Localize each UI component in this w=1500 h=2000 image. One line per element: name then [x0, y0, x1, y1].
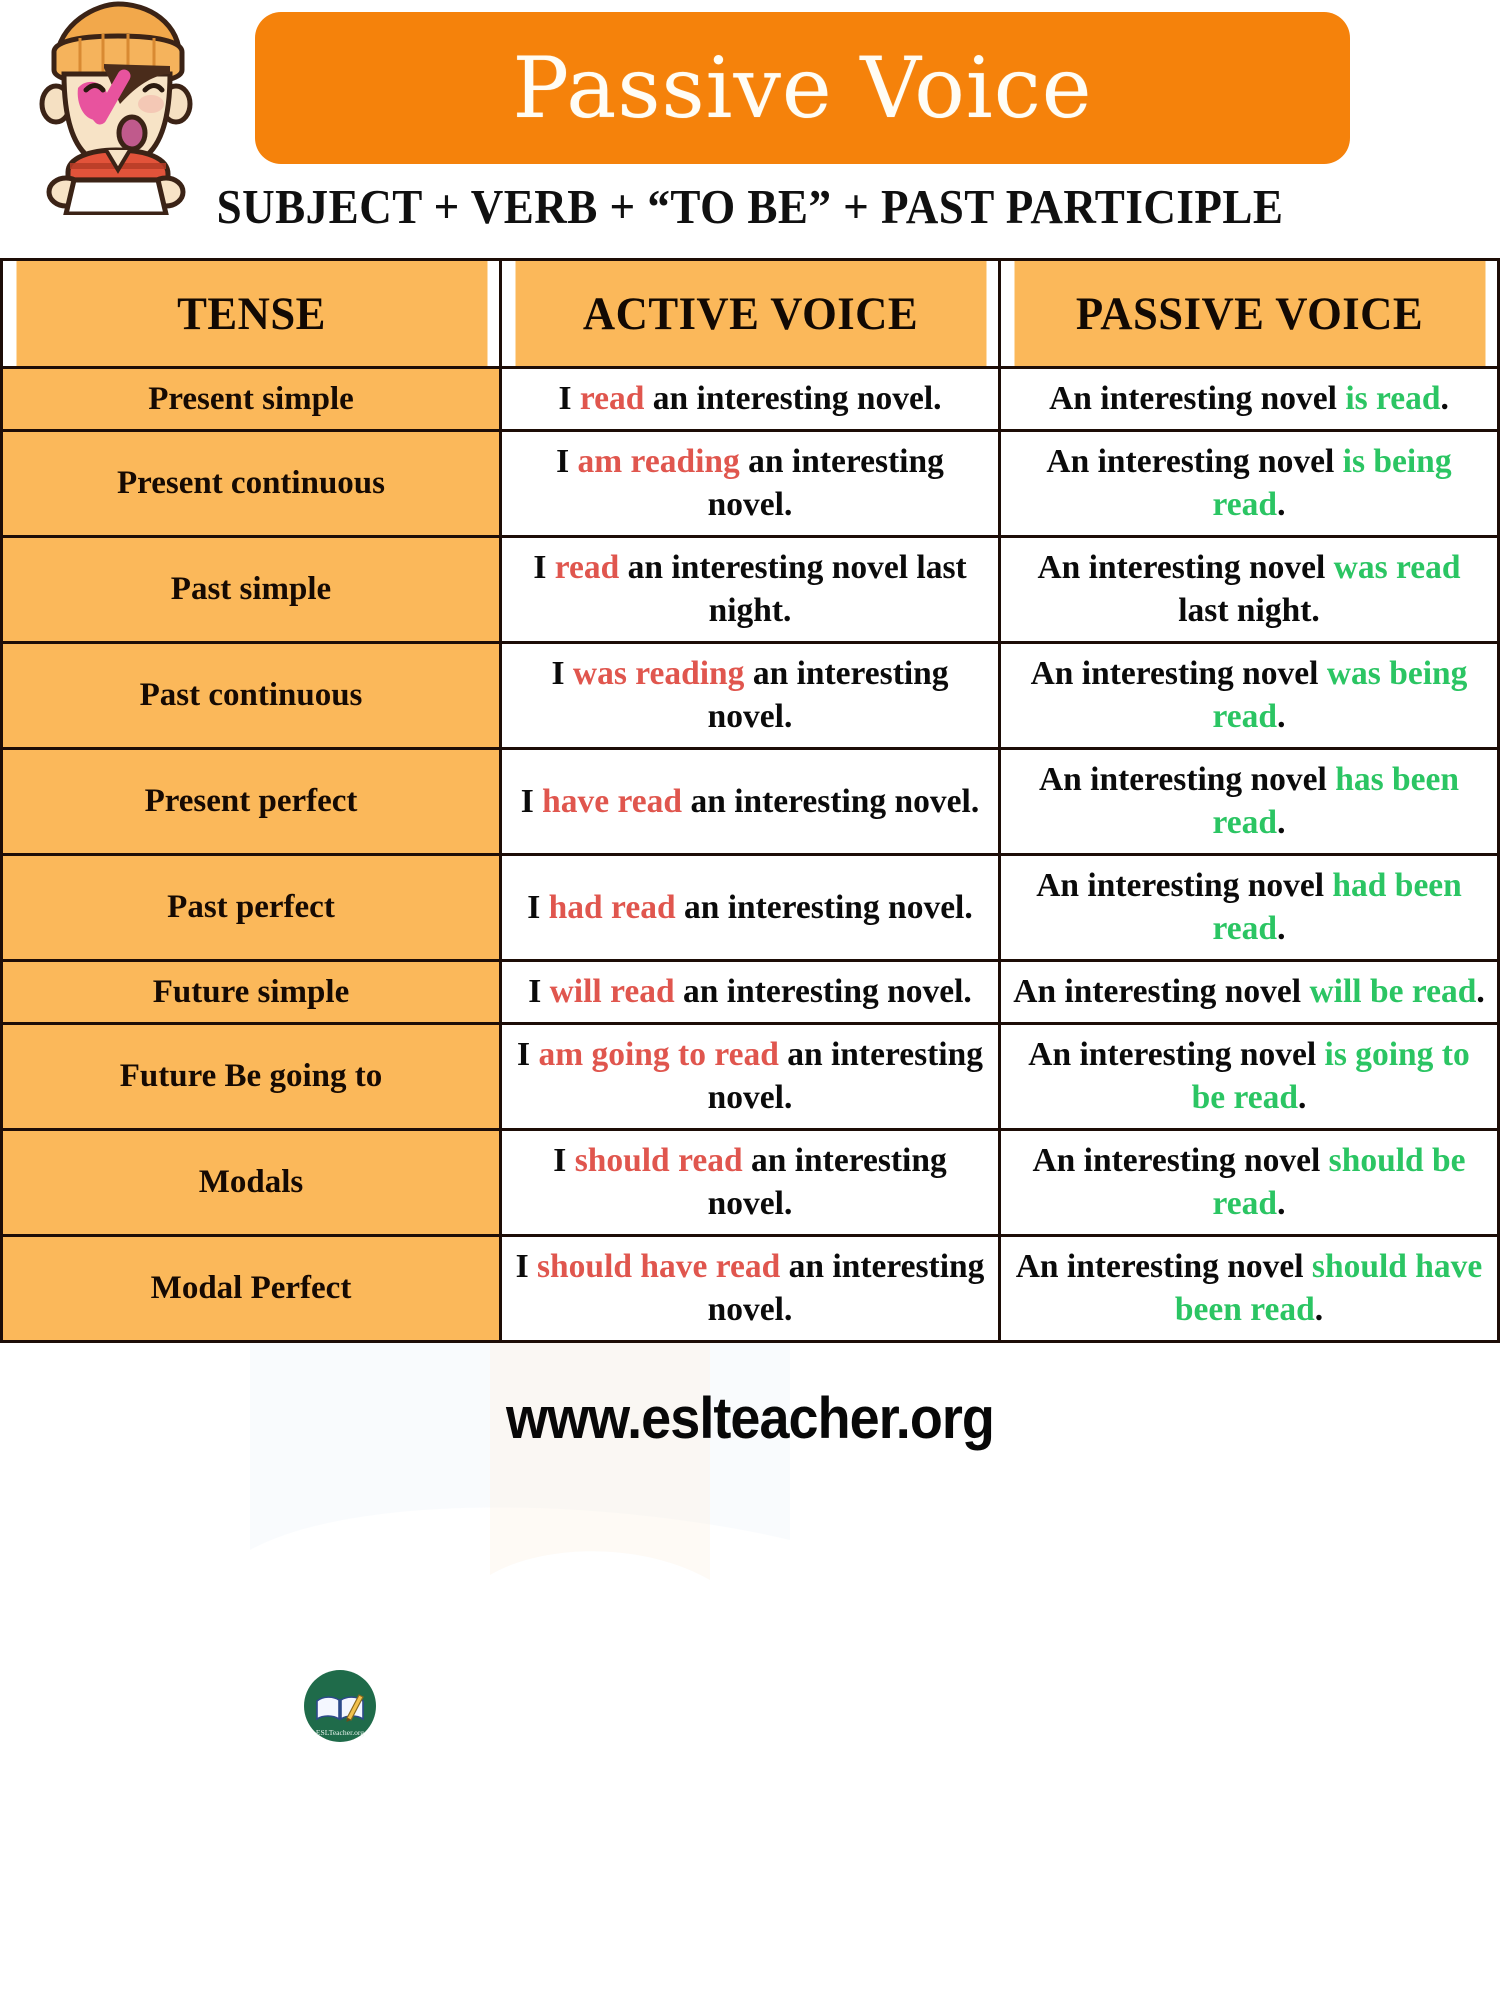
table-row: Present continuousI am reading an intere…: [2, 430, 1499, 536]
passive-voice-cell: An interesting novel is going to be read…: [1000, 1023, 1499, 1129]
column-header-active: ACTIVE VOICE: [513, 260, 987, 368]
sentence-text: An interesting novel: [1013, 973, 1309, 1010]
sentence-text: I: [516, 1248, 537, 1285]
tense-cell: Modals: [2, 1129, 501, 1235]
sentence-text: .: [1441, 380, 1449, 417]
active-verb-highlight: read: [580, 380, 645, 417]
sentence-text: .: [1277, 698, 1285, 735]
sentence-text: an interesting novel.: [676, 889, 973, 926]
active-verb-highlight: have read: [542, 783, 682, 820]
table-header-row: TENSE ACTIVE VOICE PASSIVE VOICE: [2, 260, 1499, 368]
column-header-tense: TENSE: [14, 260, 488, 368]
sentence-text: I: [558, 380, 579, 417]
footer-website: www.eslteacher.org: [53, 1385, 1448, 1452]
sentence-text: An interesting novel: [1049, 380, 1345, 417]
sentence-text: An interesting novel: [1037, 549, 1333, 586]
title-banner: Passive Voice: [255, 12, 1350, 164]
sentence-text: An interesting novel: [1046, 443, 1342, 480]
passive-verb-highlight: will be read: [1309, 973, 1476, 1010]
tense-cell: Past simple: [2, 536, 501, 642]
sentence-text: .: [1298, 1079, 1306, 1116]
passive-voice-cell: An interesting novel has been read.: [1000, 748, 1499, 854]
active-verb-highlight: should read: [575, 1142, 743, 1179]
active-verb-highlight: am reading: [578, 443, 740, 480]
tense-cell: Future Be going to: [2, 1023, 501, 1129]
table-row: Future simpleI will read an interesting …: [2, 961, 1499, 1024]
active-voice-cell: I was reading an interesting novel.: [501, 642, 1000, 748]
sentence-text: I: [556, 443, 577, 480]
sentence-text: I: [551, 655, 572, 692]
sentence-text: an interesting novel.: [682, 783, 979, 820]
passive-verb-highlight: was read: [1334, 549, 1461, 586]
table-row: Past simpleI read an interesting novel l…: [2, 536, 1499, 642]
column-header-passive: PASSIVE VOICE: [1012, 260, 1486, 368]
svg-text:ESLTeacher.org: ESLTeacher.org: [316, 1728, 364, 1737]
sentence-text: An interesting novel: [1031, 655, 1327, 692]
passive-voice-cell: An interesting novel was read last night…: [1000, 536, 1499, 642]
active-verb-highlight: read: [555, 549, 620, 586]
table-row: Future Be going toI am going to read an …: [2, 1023, 1499, 1129]
passive-voice-cell: An interesting novel should be read.: [1000, 1129, 1499, 1235]
active-voice-cell: I had read an interesting novel.: [501, 854, 1000, 960]
sentence-text: .: [1277, 910, 1285, 947]
active-voice-cell: I should have read an interesting novel.: [501, 1235, 1000, 1341]
sentence-text: An interesting novel: [1032, 1142, 1328, 1179]
sentence-text: I: [553, 1142, 574, 1179]
active-voice-cell: I read an interesting novel.: [501, 368, 1000, 431]
active-verb-highlight: am going to read: [538, 1036, 778, 1073]
table-row: ModalsI should read an interesting novel…: [2, 1129, 1499, 1235]
passive-verb-highlight: is read: [1345, 380, 1440, 417]
table-row: Modal PerfectI should have read an inter…: [2, 1235, 1499, 1341]
active-voice-cell: I have read an interesting novel.: [501, 748, 1000, 854]
formula-line: SUBJECT + VERB + “TO BE” + PAST PARTICIP…: [60, 178, 1440, 235]
tense-cell: Past perfect: [2, 854, 501, 960]
page-title: Passive Voice: [513, 46, 1093, 130]
sentence-text: last night.: [1178, 592, 1319, 629]
sentence-text: .: [1315, 1291, 1323, 1328]
tense-cell: Present continuous: [2, 430, 501, 536]
active-voice-cell: I am going to read an interesting novel.: [501, 1023, 1000, 1129]
sentence-text: An interesting novel: [1036, 867, 1332, 904]
passive-voice-table: TENSE ACTIVE VOICE PASSIVE VOICE Present…: [0, 258, 1500, 1343]
passive-voice-cell: An interesting novel will be read.: [1000, 961, 1499, 1024]
active-verb-highlight: had read: [549, 889, 676, 926]
sentence-text: I: [533, 549, 554, 586]
sentence-text: an interesting novel last night.: [619, 549, 966, 630]
table-body: Present simpleI read an interesting nove…: [2, 368, 1499, 1342]
table-row: Past perfectI had read an interesting no…: [2, 854, 1499, 960]
tense-cell: Present simple: [2, 368, 501, 431]
sentence-text: .: [1277, 1185, 1285, 1222]
page-header: Passive Voice SUBJECT + VERB + “TO BE” +…: [0, 0, 1500, 250]
passive-voice-cell: An interesting novel was being read.: [1000, 642, 1499, 748]
tense-cell: Future simple: [2, 961, 501, 1024]
passive-voice-cell: An interesting novel should have been re…: [1000, 1235, 1499, 1341]
passive-voice-cell: An interesting novel had been read.: [1000, 854, 1499, 960]
sentence-text: .: [1476, 973, 1484, 1010]
sentence-text: .: [1277, 804, 1285, 841]
passive-voice-infographic: Passive Voice SUBJECT + VERB + “TO BE” +…: [0, 0, 1500, 2000]
sentence-text: An interesting novel: [1039, 761, 1335, 798]
sentence-text: an interesting novel.: [644, 380, 941, 417]
sentence-text: an interesting novel.: [675, 973, 972, 1010]
passive-voice-cell: An interesting novel is read.: [1000, 368, 1499, 431]
sentence-text: An interesting novel: [1028, 1036, 1324, 1073]
sentence-text: I: [517, 1036, 538, 1073]
sentence-text: an interesting novel.: [708, 1142, 947, 1223]
sentence-text: an interesting novel.: [708, 443, 944, 524]
tense-cell: Past continuous: [2, 642, 501, 748]
tense-cell: Modal Perfect: [2, 1235, 501, 1341]
tense-cell: Present perfect: [2, 748, 501, 854]
active-voice-cell: I am reading an interesting novel.: [501, 430, 1000, 536]
sentence-text: I: [528, 973, 549, 1010]
table-row: Past continuousI was reading an interest…: [2, 642, 1499, 748]
sentence-text: I: [521, 783, 542, 820]
active-verb-highlight: was reading: [573, 655, 745, 692]
table-row: Present perfectI have read an interestin…: [2, 748, 1499, 854]
active-verb-highlight: will read: [550, 973, 675, 1010]
active-voice-cell: I should read an interesting novel.: [501, 1129, 1000, 1235]
active-verb-highlight: should have read: [537, 1248, 780, 1285]
active-voice-cell: I read an interesting novel last night.: [501, 536, 1000, 642]
table-row: Present simpleI read an interesting nove…: [2, 368, 1499, 431]
sentence-text: .: [1277, 486, 1285, 523]
sentence-text: An interesting novel: [1016, 1248, 1312, 1285]
active-voice-cell: I will read an interesting novel.: [501, 961, 1000, 1024]
passive-voice-cell: An interesting novel is being read.: [1000, 430, 1499, 536]
sentence-text: an interesting novel.: [708, 655, 949, 736]
eslteacher-logo-badge: ESLTeacher.org: [303, 1669, 377, 1743]
sentence-text: I: [527, 889, 548, 926]
